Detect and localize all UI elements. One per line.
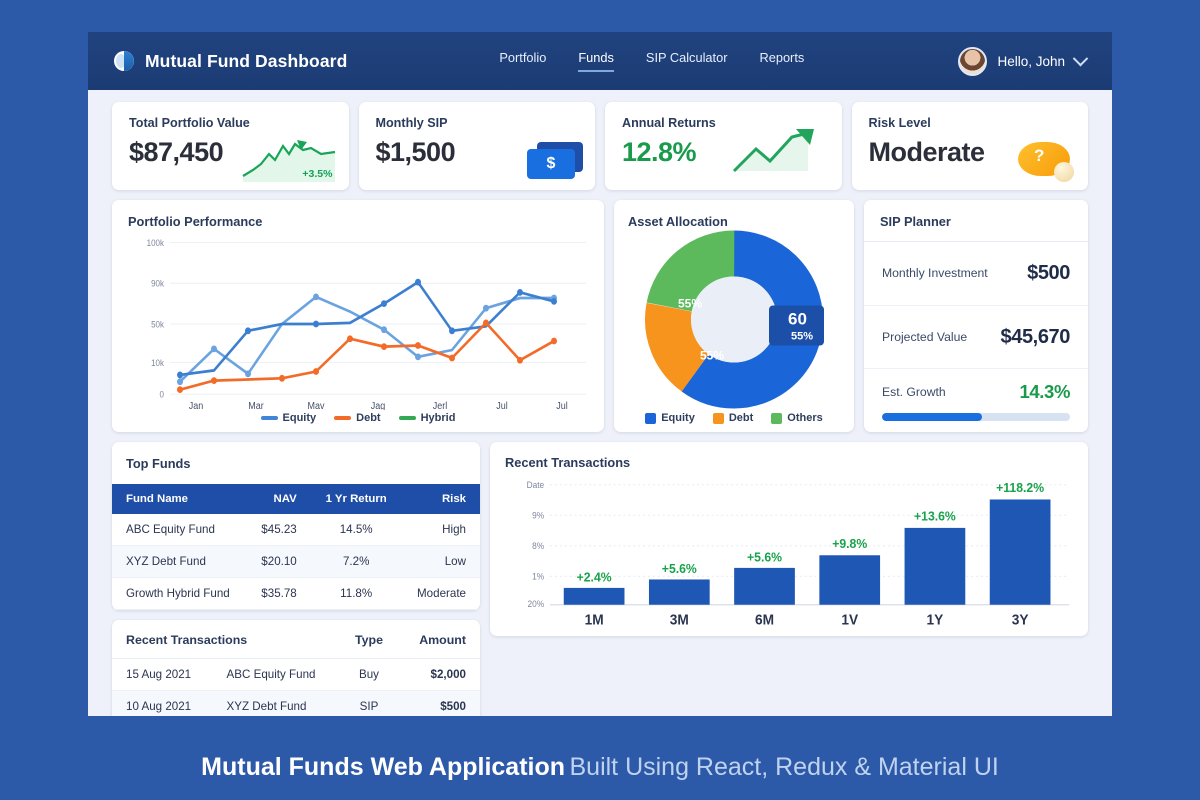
x-tick-label: Jerl — [433, 400, 447, 410]
top-funds-header: Top Funds — [112, 442, 480, 484]
y-tick-label: 8% — [532, 541, 544, 551]
svg-text:0: 0 — [160, 389, 165, 400]
x-tick-label: 3Y — [1012, 612, 1029, 629]
panel-title: Top Funds — [126, 456, 190, 471]
panel-title: Recent Transactions — [505, 455, 1073, 470]
y-tick-label: 1% — [532, 571, 544, 581]
portfolio-performance-chart[interactable]: Portfolio Performance 100k 90k 50k 10k — [112, 200, 604, 432]
legend-item-hybrid[interactable]: Hybrid — [399, 412, 456, 424]
legend-swatch — [771, 413, 782, 424]
col-1yr-return[interactable]: 1 Yr Return — [311, 484, 402, 514]
donut-tooltip-value: 60 — [788, 310, 807, 329]
legend-label: Hybrid — [421, 412, 456, 424]
col-type[interactable]: Type — [339, 620, 399, 659]
col-recent-transactions[interactable]: Recent Transactions — [112, 620, 339, 659]
user-greeting: Hello, John — [997, 54, 1065, 69]
left-column: Top Funds Fund Name NAV 1 Yr Return Risk — [112, 442, 480, 716]
y-tick-label: 9% — [532, 510, 544, 520]
nav-item-reports[interactable]: Reports — [759, 50, 804, 72]
svg-text:100k: 100k — [147, 237, 165, 248]
x-tick-label: 6M — [755, 612, 774, 629]
cell-return: 14.5% — [311, 514, 402, 546]
svg-text:10k: 10k — [151, 357, 165, 368]
bar-data-label: +9.8% — [832, 537, 867, 551]
x-tick-label: Jag — [371, 400, 385, 410]
user-menu[interactable]: Hello, John — [958, 47, 1086, 76]
growth-progress-fill — [882, 413, 982, 421]
mid-row: Portfolio Performance 100k 90k 50k 10k — [112, 200, 1088, 432]
transactions-bar-chart[interactable]: Recent Transactions Date 9% 8% 1% 2 — [490, 442, 1088, 636]
trend-up-arrow-icon — [730, 127, 830, 182]
slice-label-debt: 55% — [700, 349, 724, 363]
bar-data-label: +5.6% — [747, 550, 782, 564]
wallet-dollar-icon: $ — [527, 142, 583, 182]
kpi-label: Risk Level — [869, 116, 1072, 130]
svg-text:50k: 50k — [151, 319, 165, 330]
dollar-symbol: $ — [527, 149, 575, 179]
legend-label: Equity — [283, 412, 317, 424]
nav-item-sip-calculator[interactable]: SIP Calculator — [646, 50, 728, 72]
sip-planner-header: SIP Planner — [864, 200, 1088, 242]
donut-legend: Equity Debt Others — [628, 412, 840, 424]
nav-item-portfolio[interactable]: Portfolio — [499, 50, 546, 72]
table-row[interactable]: Growth Hybrid Fund $35.78 11.8% Moderate — [112, 578, 480, 610]
panel-title: Portfolio Performance — [128, 214, 588, 229]
asset-allocation-chart[interactable]: Asset Allocation 55% 55% 60 55% — [614, 200, 854, 432]
bar-data-label: +118.2% — [996, 481, 1044, 495]
table-header-row: Fund Name NAV 1 Yr Return Risk — [112, 484, 480, 514]
kpi-card-annual-returns[interactable]: Annual Returns 12.8% — [605, 102, 842, 190]
chevron-down-icon[interactable] — [1073, 50, 1089, 66]
top-funds-card[interactable]: Top Funds Fund Name NAV 1 Yr Return Risk — [112, 442, 480, 610]
x-tick-label: Jan — [189, 400, 203, 410]
question-symbol: ? — [1034, 146, 1044, 166]
bar-chart-plot: Date 9% 8% 1% 20% — [505, 470, 1073, 630]
cell-type: SIP — [339, 691, 399, 717]
table-header-row: Recent Transactions Type Amount — [112, 620, 480, 659]
sip-row-value: $45,670 — [1001, 326, 1071, 349]
avatar — [958, 47, 987, 76]
question-blob-icon: ? — [1018, 140, 1076, 182]
nav-item-funds[interactable]: Funds — [578, 50, 614, 72]
cell-nav: $45.23 — [246, 514, 311, 546]
svg-text:90k: 90k — [151, 278, 165, 289]
main-nav: Portfolio Funds SIP Calculator Reports — [499, 50, 804, 72]
growth-progress-bar — [882, 413, 1070, 421]
table-row[interactable]: ABC Equity Fund $45.23 14.5% High — [112, 514, 480, 546]
panel-title: SIP Planner — [880, 214, 1072, 229]
legend-item-equity[interactable]: Equity — [645, 412, 695, 424]
bottom-row: Top Funds Fund Name NAV 1 Yr Return Risk — [112, 442, 1088, 716]
x-tick-label: Jul — [556, 400, 567, 410]
sip-planner-panel[interactable]: SIP Planner Monthly Investment $500 Proj… — [864, 200, 1088, 432]
sip-row-label: Projected Value — [882, 330, 967, 344]
col-risk[interactable]: Risk — [402, 484, 480, 514]
sparkline-up-icon: +3.5% — [241, 136, 337, 182]
col-nav[interactable]: NAV — [246, 484, 311, 514]
x-tick-label: 3M — [670, 612, 689, 629]
legend-swatch — [713, 413, 724, 424]
bar-data-label: +13.6% — [914, 509, 956, 523]
bar-data-label: +2.4% — [577, 570, 612, 584]
col-amount[interactable]: Amount — [399, 620, 480, 659]
legend-label: Equity — [661, 412, 695, 424]
cell-nav: $35.78 — [246, 578, 311, 610]
slice-label-others: 55% — [678, 297, 702, 311]
line-chart-legend: Equity Debt Hybrid — [128, 412, 588, 424]
cell-type: Buy — [339, 659, 399, 691]
panel-title: Asset Allocation — [628, 214, 840, 229]
table-row[interactable]: 10 Aug 2021 XYZ Debt Fund SIP $500 — [112, 691, 480, 717]
cell-nav: $20.10 — [246, 546, 311, 578]
cell-amount: $500 — [399, 691, 480, 717]
cell-risk: Low — [402, 546, 480, 578]
sip-row-label: Monthly Investment — [882, 266, 988, 280]
sip-row-projected-value: Projected Value $45,670 — [864, 306, 1088, 370]
legend-label: Debt — [729, 412, 753, 424]
cell-date: 15 Aug 2021 — [112, 659, 213, 691]
kpi-label: Total Portfolio Value — [129, 116, 332, 130]
cell-fund-name: Growth Hybrid Fund — [112, 578, 246, 610]
legend-item-debt[interactable]: Debt — [334, 412, 380, 424]
sip-row-value: 14.3% — [1020, 381, 1070, 403]
x-tick-label: 1M — [585, 612, 604, 629]
line-chart-plot: 100k 90k 50k 10k 0 — [128, 229, 588, 410]
app-header: Mutual Fund Dashboard Portfolio Funds SI… — [88, 32, 1112, 90]
caption-light: Built Using React, Redux & Material UI — [569, 753, 998, 781]
x-tick-label: 1V — [841, 612, 858, 629]
sip-row-monthly-investment: Monthly Investment $500 — [864, 242, 1088, 306]
caption-bold: Mutual Funds Web Application — [201, 753, 565, 781]
app-title: Mutual Fund Dashboard — [145, 51, 347, 72]
cell-risk: High — [402, 514, 480, 546]
pie-logo-icon — [114, 51, 134, 71]
legend-label: Others — [787, 412, 822, 424]
cell-date: 10 Aug 2021 — [112, 691, 213, 717]
table-row[interactable]: 15 Aug 2021 ABC Equity Fund Buy $2,000 — [112, 659, 480, 691]
col-fund-name[interactable]: Fund Name — [112, 484, 246, 514]
recent-transactions-table: Recent Transactions Type Amount 15 Aug 2… — [112, 620, 480, 716]
x-tick-label: Jul — [496, 400, 507, 410]
brand: Mutual Fund Dashboard — [114, 51, 347, 72]
legend-swatch — [334, 416, 351, 420]
x-tick-label: Mav — [308, 400, 325, 410]
x-tick-label: 1Y — [927, 612, 944, 629]
donut-chart-plot: 55% 55% 60 55% — [628, 229, 840, 410]
kpi-card-risk-level[interactable]: Risk Level Moderate ? — [852, 102, 1089, 190]
top-funds-table: Fund Name NAV 1 Yr Return Risk ABC Equit… — [112, 484, 480, 610]
cell-fund: XYZ Debt Fund — [213, 691, 339, 717]
cell-return: 11.8% — [311, 578, 402, 610]
sip-row-label: Est. Growth — [882, 385, 946, 399]
cell-fund-name: ABC Equity Fund — [112, 514, 246, 546]
cell-amount: $2,000 — [399, 659, 480, 691]
legend-item-others[interactable]: Others — [771, 412, 822, 424]
cell-risk: Moderate — [402, 578, 480, 610]
page-caption: Mutual Funds Web Application Built Using… — [0, 753, 1200, 782]
donut-tooltip-pct: 55% — [791, 331, 813, 343]
y-tick-label: 20% — [528, 599, 545, 609]
legend-swatch — [261, 416, 278, 420]
kpi-label: Monthly SIP — [376, 116, 579, 130]
legend-item-debt[interactable]: Debt — [713, 412, 753, 424]
legend-item-equity[interactable]: Equity — [261, 412, 317, 424]
x-tick-label: Mar — [248, 400, 264, 410]
cell-fund-name: XYZ Debt Fund — [112, 546, 246, 578]
app-window: Mutual Fund Dashboard Portfolio Funds SI… — [88, 32, 1112, 716]
y-tick-label: Date — [527, 480, 545, 490]
legend-swatch — [645, 413, 656, 424]
table-row[interactable]: XYZ Debt Fund $20.10 7.2% Low — [112, 546, 480, 578]
recent-transactions-card[interactable]: Recent Transactions Type Amount 15 Aug 2… — [112, 620, 480, 716]
cell-return: 7.2% — [311, 546, 402, 578]
sip-row-value: $500 — [1027, 262, 1070, 285]
kpi-card-monthly-sip[interactable]: Monthly SIP $1,500 $ — [359, 102, 596, 190]
legend-swatch — [399, 416, 416, 420]
legend-label: Debt — [356, 412, 380, 424]
kpi-row: Total Portfolio Value $87,450 +3.5% Mont… — [112, 102, 1088, 190]
bar-data-label: +5.6% — [662, 562, 697, 576]
sip-row-est-growth: Est. Growth 14.3% — [864, 369, 1088, 432]
cell-fund: ABC Equity Fund — [213, 659, 339, 691]
kpi-delta: +3.5% — [302, 168, 332, 180]
kpi-card-total-portfolio-value[interactable]: Total Portfolio Value $87,450 +3.5% — [112, 102, 349, 190]
